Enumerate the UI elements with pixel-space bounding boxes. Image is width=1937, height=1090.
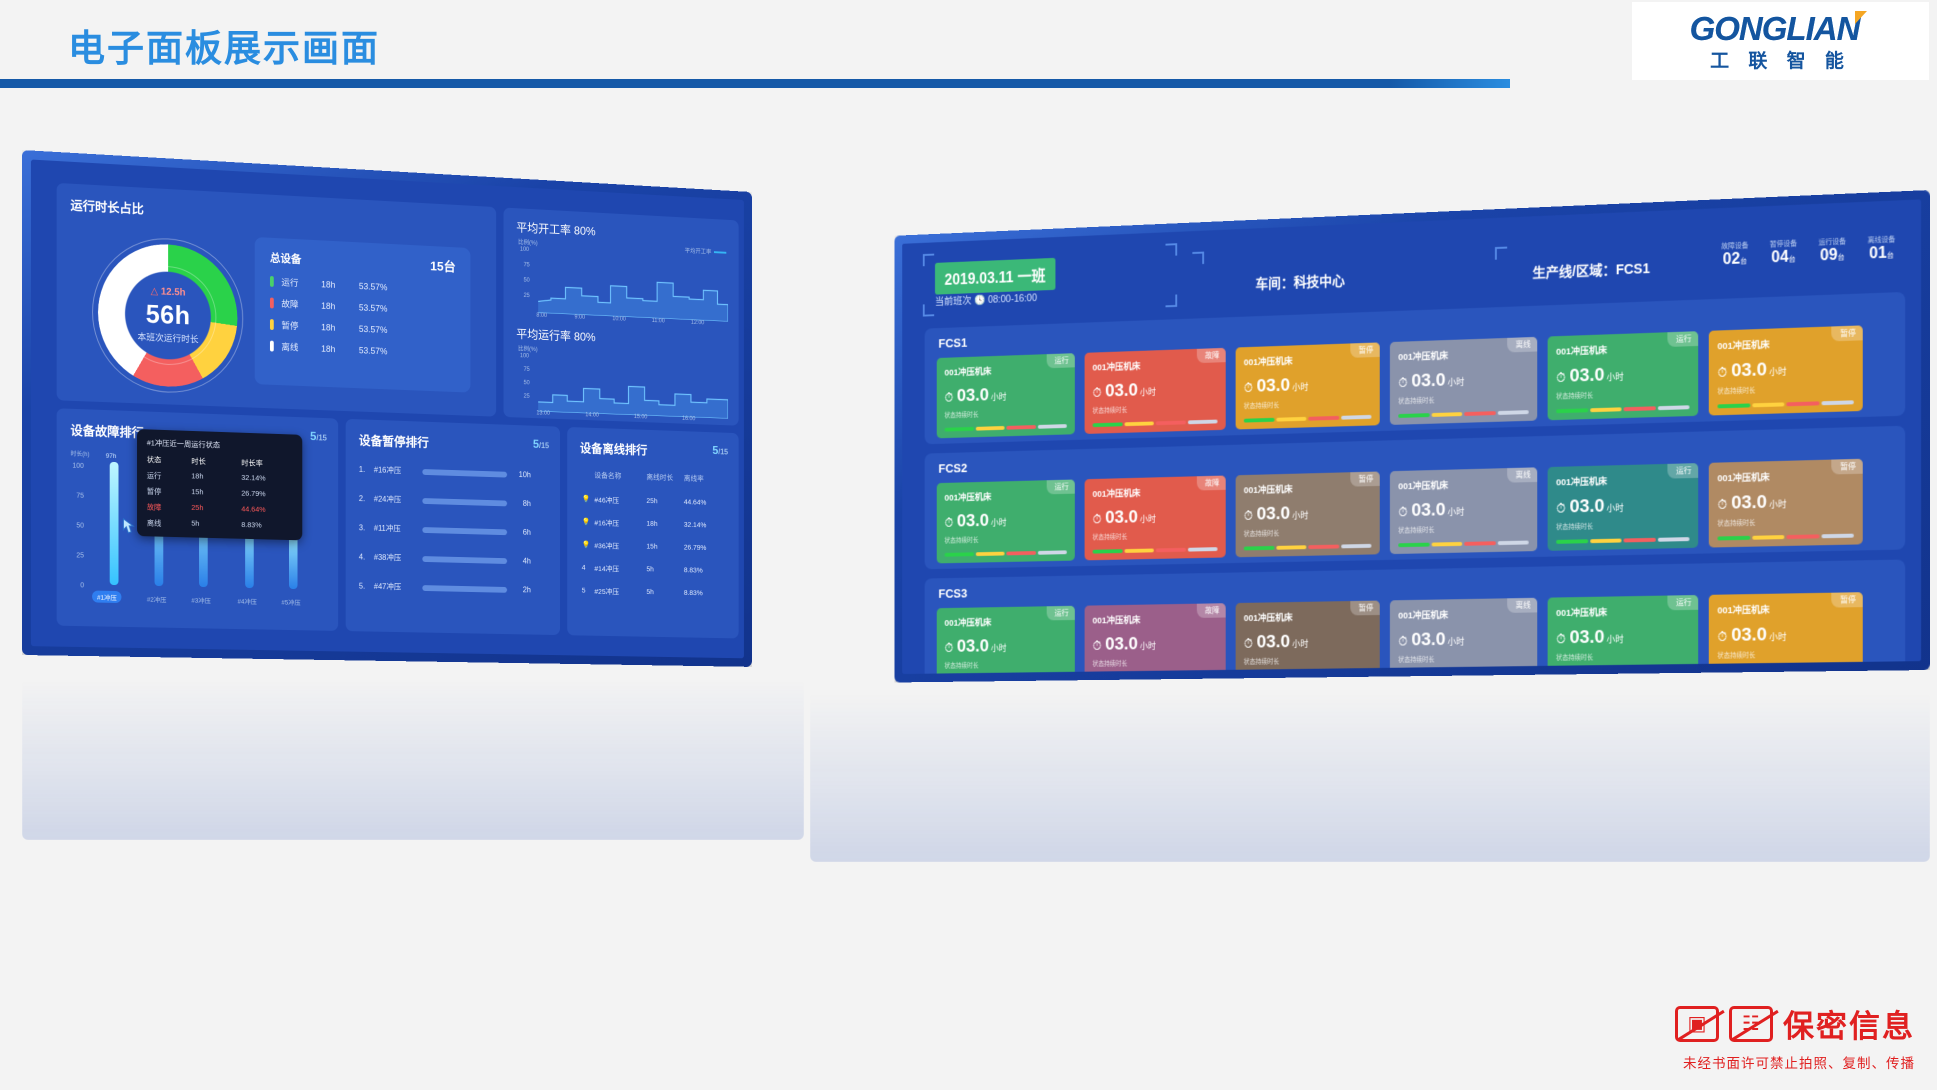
equipment-card[interactable]: 运行 001冲压机床 ⏱ 03.0 小时 状态持续时长 xyxy=(937,353,1075,438)
counter-paused: 暂停设备 04台 xyxy=(1770,238,1797,267)
status-counters: 故障设备 02台 暂停设备 04台 运行设备 09台 离线设备 01台 xyxy=(1721,234,1895,269)
equipment-desc: 状态持续时长 xyxy=(945,532,1067,544)
segment-offline xyxy=(1497,541,1528,546)
segment-fault xyxy=(1308,545,1339,549)
status-badge: 故障 xyxy=(1197,348,1226,363)
cell-duration: 18h xyxy=(646,519,683,530)
counter-value: 09台 xyxy=(1819,246,1846,265)
clock-icon: ⏱ xyxy=(1093,638,1102,653)
cell-duration: 5h xyxy=(646,565,683,576)
production-line-label: 生产线/区域：FCS1 xyxy=(1533,258,1650,282)
equipment-card[interactable]: 暂停 001冲压机床 ⏱ 03.0 小时 状态持续时长 xyxy=(1709,459,1863,548)
rank-device-name: #16冲压 xyxy=(374,465,422,477)
fault-count-total: /15 xyxy=(316,433,327,442)
segment-offline xyxy=(1187,547,1217,551)
panel-fault-ranking: 设备故障排行 5/15 时长(h) 100 75 50 25 0 xyxy=(57,408,339,631)
rank-bar-track xyxy=(422,585,507,593)
status-progress-bar xyxy=(945,550,1067,556)
duration-unit: 小时 xyxy=(1140,385,1156,398)
clock-icon: ⏱ xyxy=(1398,375,1407,391)
tooltip-rate: 32.14% xyxy=(241,473,265,485)
clock-icon: ⏱ xyxy=(1244,508,1253,523)
x-tick: 9:00 xyxy=(574,315,585,321)
col-device-name: 设备名称 xyxy=(594,470,646,482)
right-dashboard: 2019.03.11 一班 当前班次 🕓 08:00-16:00 车间：科技中心… xyxy=(902,199,1921,674)
duration-unit: 小时 xyxy=(1447,635,1464,648)
tooltip-state: 运行 xyxy=(147,470,192,482)
status-badge: 暂停 xyxy=(1350,471,1379,486)
clock-icon: ⏱ xyxy=(1556,501,1566,517)
equipment-duration: ⏱ 03.0 小时 xyxy=(1398,367,1529,393)
tooltip-header-row: 状态 时长 时长率 xyxy=(147,454,293,470)
group-label: FCS3 xyxy=(938,586,967,601)
clock-icon: ⏱ xyxy=(1093,385,1102,400)
duration-unit: 小时 xyxy=(1292,637,1308,650)
row-number: 5 xyxy=(582,586,595,597)
cell-rate: 26.79% xyxy=(684,543,721,554)
counter-number: 02 xyxy=(1723,251,1740,268)
status-progress-bar xyxy=(1717,534,1853,541)
pause-count-total: /15 xyxy=(539,441,549,450)
equipment-duration: ⏱ 03.0 小时 xyxy=(1556,626,1689,649)
duration-unit: 小时 xyxy=(1447,505,1464,518)
clock-icon: ⏱ xyxy=(945,515,954,530)
equipment-duration: ⏱ 03.0 小时 xyxy=(1556,362,1689,388)
duration-unit: 小时 xyxy=(1769,630,1787,643)
tooltip-duration: 15h xyxy=(191,487,241,499)
current-shift-info: 当前班次 🕓 08:00-16:00 xyxy=(935,291,1037,309)
legend-row: 暂停 18h 53.57% xyxy=(270,318,456,339)
clock-icon: ⏱ xyxy=(1717,629,1727,645)
device-legend-card: 总设备 15台 运行 18h 53.57% 故障 18h xyxy=(255,237,471,393)
bar-x-label[interactable]: #4冲压 xyxy=(237,596,256,606)
status-badge: 暂停 xyxy=(1831,325,1862,341)
duration-value: 03.0 xyxy=(1411,370,1445,392)
equipment-desc: 状态持续时长 xyxy=(1244,397,1372,411)
list-item[interactable]: 2. #24冲压 8h xyxy=(359,493,531,509)
equipment-duration: ⏱ 03.0 小时 xyxy=(1093,378,1218,403)
segment-run xyxy=(945,427,974,432)
chart-title-startup-rate: 平均开工率 80% xyxy=(516,219,595,239)
counter-unit: 台 xyxy=(1887,252,1894,259)
legend-duration: 18h xyxy=(321,300,359,311)
equipment-desc: 状态持续时长 xyxy=(1717,648,1853,660)
cell-device-name: #36冲压 xyxy=(594,540,646,552)
duration-unit: 小时 xyxy=(1292,380,1308,393)
equipment-card[interactable]: 故障 001冲压机床 ⏱ 03.0 小时 状态持续时长 xyxy=(1085,603,1226,674)
table-row[interactable]: 💡 #16冲压 18h 32.14% xyxy=(582,517,721,531)
legend-total-label: 总设备 xyxy=(270,249,301,266)
duration-value: 03.0 xyxy=(1569,496,1604,518)
equipment-desc: 状态持续时长 xyxy=(1093,401,1218,414)
tooltip-row: 暂停 15h 26.79% xyxy=(147,486,293,501)
corner-bracket xyxy=(1165,294,1177,307)
cell-rate: 8.83% xyxy=(684,566,721,577)
segment-pause xyxy=(1124,549,1154,553)
right-monitor-display: 2019.03.11 一班 当前班次 🕓 08:00-16:00 车间：科技中心… xyxy=(902,199,1921,674)
equipment-duration: ⏱ 03.0 小时 xyxy=(945,383,1067,408)
segment-offline xyxy=(1821,534,1854,539)
list-item[interactable]: 4. #38冲压 4h xyxy=(359,552,531,567)
rank-value: 10h xyxy=(507,470,531,479)
segment-pause xyxy=(1276,417,1306,422)
left-monitor-reflection xyxy=(22,660,804,840)
counter-value: 01台 xyxy=(1868,244,1896,263)
equipment-duration: ⏱ 03.0 小时 xyxy=(1244,373,1372,398)
legend-duration: 18h xyxy=(321,343,359,354)
y-tick: 50 xyxy=(76,522,84,529)
duration-value: 03.0 xyxy=(1731,492,1767,515)
segment-offline xyxy=(1657,537,1689,542)
corner-bracket xyxy=(1495,247,1507,260)
y-tick: 25 xyxy=(524,394,530,400)
table-row[interactable]: 💡 #36冲压 15h 26.79% xyxy=(582,540,721,554)
counter-offline: 离线设备 01台 xyxy=(1868,234,1896,263)
panel-title-run-duration: 运行时长占比 xyxy=(70,195,143,218)
tooltip-rate: 26.79% xyxy=(241,489,265,501)
running-rate-label: 平均运行率 80% xyxy=(516,327,595,344)
duration-value: 03.0 xyxy=(1569,365,1604,388)
bar-x-label[interactable]: #5冲压 xyxy=(281,597,300,607)
bar-x-label-selected[interactable]: #1冲压 xyxy=(92,591,122,604)
legend-row: 运行 18h 53.57% xyxy=(270,275,456,297)
clock-icon: ⏱ xyxy=(1556,370,1566,386)
tooltip-row: 运行 18h 32.14% xyxy=(147,470,293,485)
legend-line-swatch xyxy=(714,251,726,254)
equipment-duration: ⏱ 03.0 小时 xyxy=(1717,357,1853,383)
tooltip-state: 故障 xyxy=(147,502,192,514)
segment-pause xyxy=(975,426,1004,431)
donut-delta-value: 12.5h xyxy=(161,287,186,299)
tooltip-duration: 18h xyxy=(191,471,241,483)
y-tick: 75 xyxy=(76,493,84,500)
status-badge: 暂停 xyxy=(1831,459,1862,475)
workshop-label: 车间：科技中心 xyxy=(1256,271,1345,294)
legend-swatch-pause xyxy=(270,319,274,330)
equipment-card[interactable]: 故障 001冲压机床 ⏱ 03.0 小时 状态持续时长 xyxy=(1085,348,1226,434)
duration-value: 03.0 xyxy=(1569,627,1604,649)
duration-unit: 小时 xyxy=(991,390,1007,403)
group-label: FCS1 xyxy=(938,335,967,350)
panel-pause-ranking: 设备暂停排行 5/15 1. #16冲压 10h 2. #24冲压 xyxy=(346,419,560,635)
segment-fault xyxy=(1464,541,1495,546)
table-row[interactable]: 4 #14冲压 5h 8.83% xyxy=(582,563,721,577)
segment-run xyxy=(1717,536,1749,541)
counter-number: 09 xyxy=(1820,247,1837,265)
equipment-duration: ⏱ 03.0 小时 xyxy=(1398,498,1529,522)
duration-value: 03.0 xyxy=(1257,504,1291,526)
segment-pause xyxy=(1276,545,1306,549)
legend-percent: 53.57% xyxy=(359,281,388,292)
corner-bracket xyxy=(923,304,934,317)
equipment-desc: 状态持续时长 xyxy=(1717,515,1853,528)
legend-name: 暂停 xyxy=(281,319,321,333)
confidential-notice: ▣ ☷ 保密信息 未经书面许可禁止拍照、复制、传播 xyxy=(1675,1001,1915,1072)
x-tick: 15:00 xyxy=(634,414,647,420)
tooltip-rate: 44.64% xyxy=(241,504,265,515)
segment-run xyxy=(1556,539,1588,544)
segment-pause xyxy=(1752,535,1785,540)
logo-wordmark: GONGLIAN xyxy=(1690,10,1872,48)
equipment-card[interactable]: 运行 001冲压机床 ⏱ 03.0 小时 状态持续时长 xyxy=(937,479,1075,563)
segment-run xyxy=(1093,422,1123,427)
legend-name: 故障 xyxy=(281,297,321,312)
title-underline xyxy=(0,79,1510,88)
clock-icon: ⏱ xyxy=(1556,631,1566,647)
right-monitor-reflection xyxy=(810,672,1930,862)
segment-fault xyxy=(1006,425,1035,430)
tooltip-state: 离线 xyxy=(147,517,192,529)
equipment-card[interactable]: 运行 001冲压机床 ⏱ 03.0 小时 状态持续时长 xyxy=(1548,463,1699,551)
cell-rate: 44.64% xyxy=(684,497,721,509)
duration-unit: 小时 xyxy=(1140,512,1156,525)
status-progress-bar xyxy=(1398,541,1529,548)
equipment-card[interactable]: 暂停 001冲压机床 ⏱ 03.0 小时 状态持续时长 xyxy=(1709,325,1863,415)
duration-unit: 小时 xyxy=(1140,639,1156,652)
donut-caption: 本班次运行时长 xyxy=(138,330,199,345)
duration-value: 03.0 xyxy=(1105,507,1138,529)
status-badge: 离线 xyxy=(1507,337,1537,353)
clock-icon: ⏱ xyxy=(1717,497,1727,513)
rank-bar-track xyxy=(422,527,507,535)
clock-icon: ⏱ xyxy=(1244,380,1253,396)
legend-percent: 53.57% xyxy=(359,345,388,356)
segment-offline xyxy=(1187,420,1217,425)
duration-unit: 小时 xyxy=(1606,501,1623,514)
legend-total-row: 总设备 15台 xyxy=(270,248,456,276)
segment-run xyxy=(1717,403,1749,408)
duration-unit: 小时 xyxy=(991,642,1007,654)
status-badge: 暂停 xyxy=(1350,342,1379,357)
equipment-duration: ⏱ 03.0 小时 xyxy=(1717,490,1853,515)
clock-icon: ⏱ xyxy=(945,641,954,656)
tooltip-header-rate: 时长率 xyxy=(241,457,262,468)
equipment-card[interactable]: 暂停 001冲压机床 ⏱ 03.0 小时 状态持续时长 xyxy=(1236,471,1380,557)
bar-x-label[interactable]: #2冲压 xyxy=(147,594,167,604)
y-tick: 50 xyxy=(524,278,530,284)
segment-pause xyxy=(1124,421,1154,426)
y-tick: 75 xyxy=(524,367,530,373)
rank-number: 3. xyxy=(359,523,374,532)
table-header-row: 设备名称 离线时长 离线率 xyxy=(582,469,721,484)
run-duration-donut: △ 12.5h 56h 本班次运行时长 xyxy=(98,241,238,390)
no-copy-icon: ☷ xyxy=(1729,1006,1773,1042)
donut-main-value: 56h xyxy=(146,299,191,332)
duration-unit: 小时 xyxy=(1769,497,1787,510)
status-badge: 运行 xyxy=(1667,463,1698,479)
equipment-desc: 状态持续时长 xyxy=(1244,526,1372,538)
equipment-duration: ⏱ 03.0 小时 xyxy=(1093,505,1218,529)
equipment-duration: ⏱ 03.0 小时 xyxy=(1244,502,1372,526)
equipment-card[interactable]: 暂停 001冲压机床 ⏱ 03.0 小时 状态持续时长 xyxy=(1236,601,1380,674)
equipment-card[interactable]: 离线 001冲压机床 ⏱ 03.0 小时 状态持续时长 xyxy=(1390,467,1537,554)
cell-device-name: #16冲压 xyxy=(594,518,646,530)
list-item[interactable]: 1. #16冲压 10h xyxy=(359,464,531,480)
chart-title-running-rate: 平均运行率 80% xyxy=(516,325,595,345)
bar-y-axis-label: 时长(h) xyxy=(70,449,89,459)
tooltip-title: #1冲压近一周运行状态 xyxy=(147,437,293,453)
equipment-card[interactable]: 运行 001冲压机床 ⏱ 03.0 小时 状态持续时长 xyxy=(1548,331,1699,420)
y-tick: 0 xyxy=(80,582,84,589)
segment-pause xyxy=(1590,407,1622,412)
bulb-icon: 💡 xyxy=(582,517,595,528)
col-spacer xyxy=(582,469,595,480)
x-tick: 14:00 xyxy=(585,412,599,418)
x-tick: 10:00 xyxy=(612,316,625,322)
legend-swatch-fault xyxy=(270,298,274,309)
clock-icon: 🕓 xyxy=(974,295,985,307)
list-item[interactable]: 3. #11冲压 6h xyxy=(359,522,531,537)
duration-value: 03.0 xyxy=(1105,634,1138,655)
equipment-desc: 状态持续时长 xyxy=(1398,392,1529,406)
x-tick: 12:00 xyxy=(691,320,704,326)
counter-number: 04 xyxy=(1771,249,1788,267)
donut-center-text: △ 12.5h 56h 本班次运行时长 xyxy=(98,241,238,390)
cell-rate: 8.83% xyxy=(684,588,721,599)
rank-value: 2h xyxy=(507,585,531,594)
clock-icon: ⏱ xyxy=(1093,512,1102,527)
duration-unit: 小时 xyxy=(1606,370,1623,383)
panel-title-fault-ranking: 设备故障排行 xyxy=(70,420,143,441)
logo-chinese-name: 工 联 智 能 xyxy=(1710,46,1851,73)
clock-icon: ⏱ xyxy=(945,390,954,405)
clock-icon: ⏱ xyxy=(1717,365,1727,381)
duration-value: 03.0 xyxy=(1411,629,1445,651)
equipment-desc: 状态持续时长 xyxy=(1093,657,1218,668)
segment-pause xyxy=(1431,412,1462,417)
counter-unit: 台 xyxy=(1838,254,1845,261)
bar-x-label[interactable]: #3冲压 xyxy=(191,595,210,605)
cell-duration: 25h xyxy=(646,496,683,508)
offline-count-badge: 5/15 xyxy=(712,444,728,458)
right-monitor: 2019.03.11 一班 当前班次 🕓 08:00-16:00 车间：科技中心… xyxy=(894,190,1930,682)
page-title: 电子面板展示画面 xyxy=(68,18,380,72)
segment-offline xyxy=(1657,405,1689,410)
segment-offline xyxy=(1037,550,1066,554)
counter-number: 01 xyxy=(1869,245,1887,263)
counter-fault: 故障设备 02台 xyxy=(1721,241,1748,270)
counter-value: 02台 xyxy=(1721,250,1748,269)
equipment-desc: 状态持续时长 xyxy=(1398,652,1529,663)
status-badge: 运行 xyxy=(1667,331,1698,347)
shift-date-badge: 2019.03.11 一班 xyxy=(935,258,1055,295)
company-logo: GONGLIAN 工 联 智 能 xyxy=(1632,2,1929,80)
offline-count-total: /15 xyxy=(718,448,728,457)
tooltip-rate: 8.83% xyxy=(241,520,261,531)
status-badge: 离线 xyxy=(1507,598,1537,613)
left-monitor: 运行时长占比 △ 12.5h 56h 本班次运行时长 xyxy=(22,150,752,667)
segment-pause xyxy=(1590,539,1622,544)
duration-unit: 小时 xyxy=(1769,365,1787,378)
status-progress-bar xyxy=(1398,410,1529,418)
duration-unit: 小时 xyxy=(1292,509,1308,522)
segment-run xyxy=(1093,549,1123,553)
legend-duration: 18h xyxy=(321,322,359,333)
equipment-card-list: 运行 001冲压机床 ⏱ 03.0 小时 状态持续时长 xyxy=(937,459,1863,564)
segment-offline xyxy=(1497,410,1528,415)
rank-number: 1. xyxy=(359,465,374,474)
running-rate-area-chart xyxy=(538,352,728,419)
duration-value: 03.0 xyxy=(1731,624,1767,646)
y-tick: 100 xyxy=(520,353,529,359)
clock-icon: ⏱ xyxy=(1398,634,1407,650)
tooltip-duration: 25h xyxy=(191,503,241,515)
equipment-card[interactable]: 运行 001冲压机床 ⏱ 03.0 小时 状态持续时长 xyxy=(937,606,1075,674)
duration-value: 03.0 xyxy=(1257,375,1291,397)
segment-offline xyxy=(1821,400,1854,405)
equipment-duration: ⏱ 03.0 小时 xyxy=(1556,494,1689,519)
status-progress-bar xyxy=(1717,400,1853,408)
bar[interactable] xyxy=(110,462,119,585)
segment-offline xyxy=(1037,424,1066,429)
rank-bar-track xyxy=(422,498,507,506)
col-offline-rate: 离线率 xyxy=(684,473,721,485)
trend-up-icon: △ xyxy=(151,286,158,297)
segment-run xyxy=(1244,418,1274,423)
equipment-card[interactable]: 暂停 001冲压机床 ⏱ 03.0 小时 状态持续时长 xyxy=(1236,342,1380,429)
corner-bracket xyxy=(1165,243,1177,256)
equipment-duration: ⏱ 03.0 小时 xyxy=(1093,633,1218,656)
equipment-card[interactable]: 离线 001冲压机床 ⏱ 03.0 小时 状态持续时长 xyxy=(1390,598,1537,674)
equipment-card[interactable]: 故障 001冲压机床 ⏱ 03.0 小时 状态持续时长 xyxy=(1085,476,1226,561)
y-tick: 25 xyxy=(524,293,530,299)
equipment-desc: 状态持续时长 xyxy=(945,406,1067,419)
rank-value: 4h xyxy=(507,556,531,565)
equipment-card[interactable]: 暂停 001冲压机床 ⏱ 03.0 小时 状态持续时长 xyxy=(1709,592,1863,674)
panel-run-duration: 运行时长占比 △ 12.5h 56h 本班次运行时长 xyxy=(57,183,497,417)
segment-fault xyxy=(1156,548,1186,552)
cell-device-name: #25冲压 xyxy=(594,586,646,598)
equipment-duration: ⏱ 03.0 小时 xyxy=(1244,631,1372,654)
duration-value: 03.0 xyxy=(1411,500,1445,522)
rank-device-name: #47冲压 xyxy=(374,581,422,593)
segment-fault xyxy=(1786,401,1819,406)
cell-device-name: #46冲压 xyxy=(594,495,646,507)
y-tick: 50 xyxy=(524,380,530,386)
equipment-desc: 状态持续时长 xyxy=(1556,518,1689,531)
table-row[interactable]: 💡 #46冲压 25h 44.64% xyxy=(582,494,721,509)
rank-number: 2. xyxy=(359,494,374,503)
tooltip-header-duration: 时长 xyxy=(191,456,241,468)
confidential-row: ▣ ☷ 保密信息 xyxy=(1675,1001,1915,1046)
equipment-card-list: 运行 001冲压机床 ⏱ 03.0 小时 状态持续时长 xyxy=(937,325,1863,438)
hand-cursor-icon xyxy=(121,518,135,536)
group-fcs3: FCS3 运行 001冲压机床 ⏱ 03.0 小时 状态持续时长 xyxy=(925,559,1906,674)
no-camera-icon: ▣ xyxy=(1675,1006,1719,1042)
legend-percent: 53.57% xyxy=(359,324,388,335)
counter-running: 运行设备 09台 xyxy=(1819,236,1846,265)
tooltip-duration: 5h xyxy=(191,519,241,531)
equipment-card[interactable]: 运行 001冲压机床 ⏱ 03.0 小时 状态持续时长 xyxy=(1548,595,1699,674)
status-progress-bar xyxy=(1093,420,1218,428)
equipment-desc: 状态持续时长 xyxy=(1717,381,1853,395)
y-axis-label-2: 比例(%) xyxy=(518,344,537,353)
table-row[interactable]: 5 #25冲压 5h 8.83% xyxy=(582,586,721,600)
status-progress-bar xyxy=(1093,547,1218,553)
segment-fault xyxy=(1464,411,1495,416)
panel-average-rates: 平均开工率 80% 比例(%) 100 75 50 25 平均开工率 8:00 … xyxy=(503,208,738,426)
duration-value: 03.0 xyxy=(1257,632,1291,654)
y-tick: 75 xyxy=(524,262,530,268)
segment-pause xyxy=(1431,542,1462,547)
list-item[interactable]: 5. #47冲压 2h xyxy=(359,581,531,595)
y-tick: 100 xyxy=(72,463,83,470)
panel-title-offline-ranking: 设备离线排行 xyxy=(580,438,647,458)
status-badge: 离线 xyxy=(1507,467,1537,482)
donut-delta: △ 12.5h xyxy=(151,286,186,298)
x-tick: 11:00 xyxy=(652,318,665,324)
equipment-card[interactable]: 离线 001冲压机床 ⏱ 03.0 小时 状态持续时长 xyxy=(1390,337,1537,425)
